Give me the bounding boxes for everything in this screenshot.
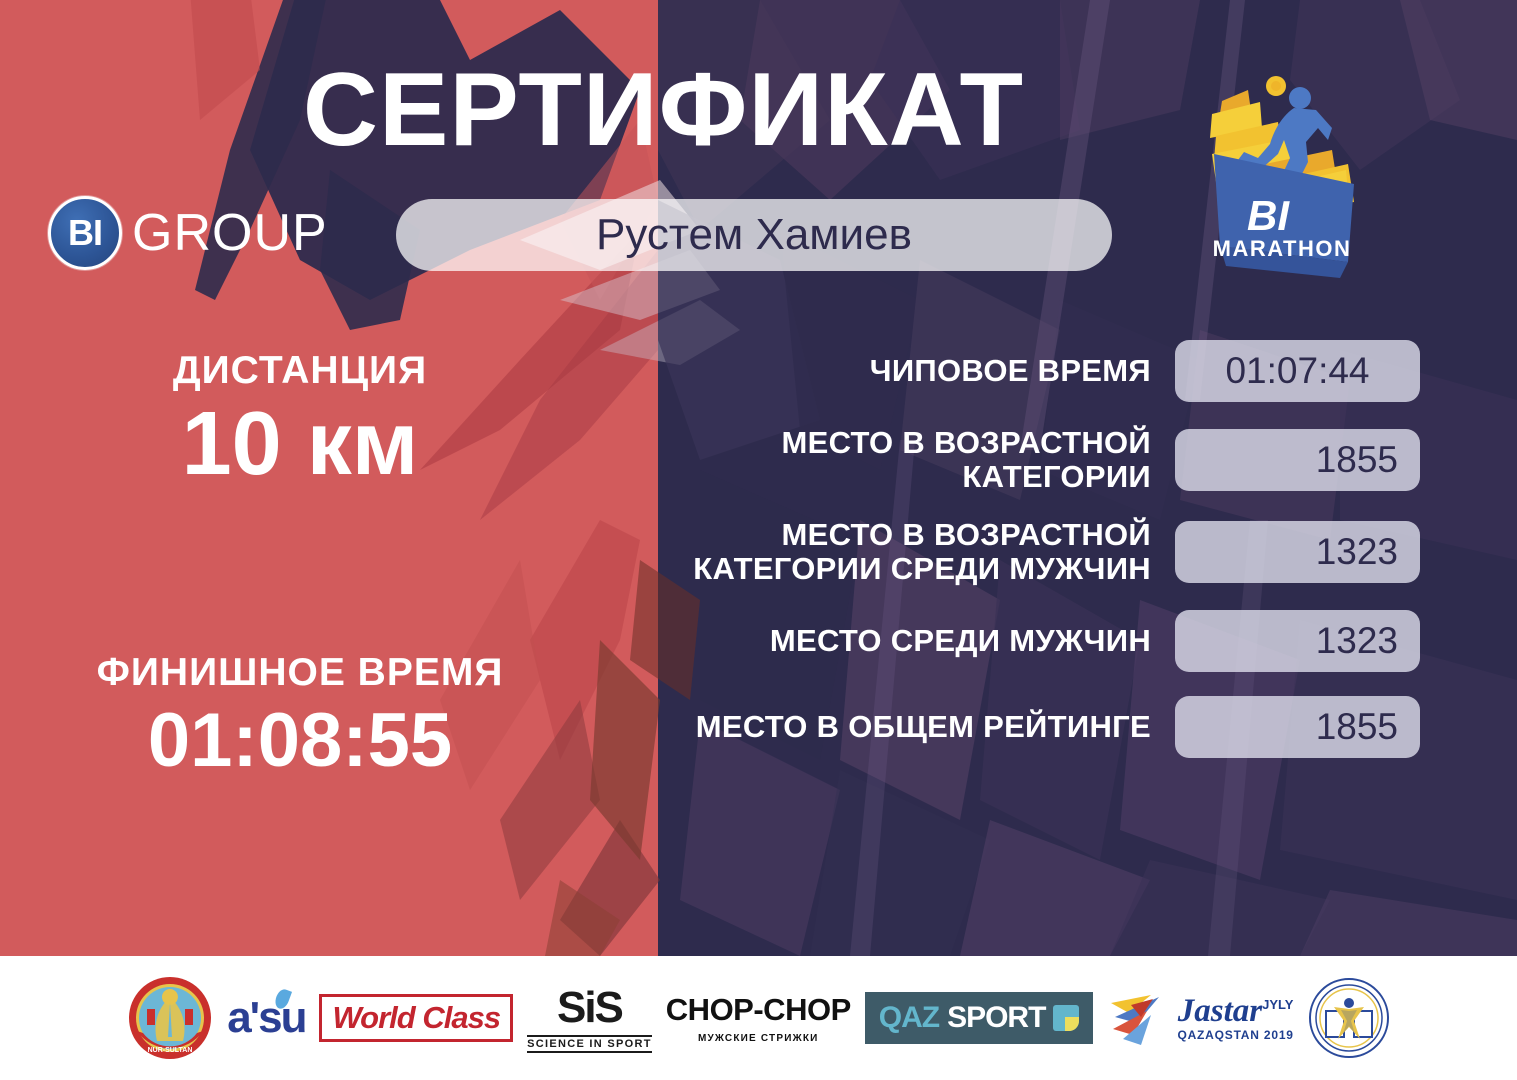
sponsor-strip: NUR-SULTAN a'su World Class SiS SCIENCE …	[0, 956, 1517, 1080]
sis-wordmark: SiS	[557, 983, 622, 1033]
stats-list: ЧИПОВОЕ ВРЕМЯ 01:07:44 МЕСТО В ВОЗРАСТНО…	[600, 340, 1420, 758]
nur-sultan-text: NUR-SULTAN	[148, 1047, 193, 1054]
nur-sultan-emblem-icon: NUR-SULTAN	[127, 975, 213, 1061]
chop-chop-wordmark: CHOP-CHOP	[666, 992, 851, 1028]
stat-value: 1855	[1175, 696, 1420, 758]
sponsor-sis: SiS SCIENCE IN SPORT	[527, 968, 652, 1068]
stat-label: МЕСТО В ВОЗРАСТНОЙ КАТЕГОРИИ СРЕДИ МУЖЧИ…	[600, 518, 1175, 586]
bi-badge-icon: BI	[48, 196, 122, 270]
distance-value: 10 км	[70, 397, 530, 492]
stat-label: МЕСТО В ВОЗРАСТНОЙ КАТЕГОРИИ	[600, 426, 1175, 494]
sis-tagline: SCIENCE IN SPORT	[527, 1035, 652, 1053]
chop-chop-tagline: МУЖСКИЕ СТРИЖКИ	[698, 1033, 819, 1044]
marathon-logo-line1: BI	[1247, 192, 1290, 239]
bi-marathon-logo: BI MARATHON	[1182, 66, 1382, 296]
stat-value: 01:07:44	[1175, 340, 1420, 402]
jastar-year: QAZAQSTAN 2019	[1177, 1028, 1293, 1042]
sponsor-ministry	[1308, 968, 1390, 1068]
qazsport-text-1: QAZ	[879, 1001, 939, 1035]
jastar-sup: JYLY	[1262, 997, 1293, 1012]
stat-row: МЕСТО В ОБЩЕМ РЕЙТИНГЕ 1855	[600, 696, 1420, 758]
jastar-wordmark: Jastar	[1178, 993, 1262, 1029]
marathon-logo-line2: MARATHON	[1213, 236, 1352, 261]
distance-label: ДИСТАНЦИЯ	[70, 348, 530, 393]
sponsor-qazsport: QAZ SPORT	[865, 968, 1094, 1068]
asu-wordmark: a'su	[227, 993, 305, 1043]
stat-row: МЕСТО В ВОЗРАСТНОЙ КАТЕГОРИИ СРЕДИ МУЖЧИ…	[600, 518, 1420, 586]
participant-name: Рустем Хамиев	[596, 210, 912, 260]
finish-time-block: ФИНИШНОЕ ВРЕМЯ 01:08:55	[70, 650, 530, 781]
finish-time-label: ФИНИШНОЕ ВРЕМЯ	[70, 650, 530, 695]
asu-text: a'su	[227, 993, 305, 1042]
sponsor-chop-chop: CHOP-CHOP МУЖСКИЕ СТРИЖКИ	[666, 968, 851, 1068]
bi-group-logo: BI GROUP	[48, 196, 328, 270]
participant-nameplate: Рустем Хамиев	[396, 199, 1112, 271]
sponsor-world-class: World Class	[319, 968, 513, 1068]
stat-label: МЕСТО В ОБЩЕМ РЕЙТИНГЕ	[600, 710, 1175, 744]
stat-value: 1323	[1175, 521, 1420, 583]
stat-row: ЧИПОВОЕ ВРЕМЯ 01:07:44	[600, 340, 1420, 402]
stat-label: ЧИПОВОЕ ВРЕМЯ	[600, 354, 1175, 388]
certificate-canvas: СЕРТИФИКАТ BI GROUP Рустем Хамиев	[0, 0, 1517, 1080]
qazsport-wordmark: QAZ SPORT	[865, 992, 1094, 1044]
sponsor-jastar-jyly: JastarJYLY QAZAQSTAN 2019	[1107, 968, 1293, 1068]
stat-label: МЕСТО СРЕДИ МУЖЧИН	[600, 624, 1175, 658]
certificate-artwork: СЕРТИФИКАТ BI GROUP Рустем Хамиев	[0, 0, 1517, 956]
world-class-wordmark: World Class	[319, 994, 513, 1042]
stat-row: МЕСТО В ВОЗРАСТНОЙ КАТЕГОРИИ 1855	[600, 426, 1420, 494]
distance-block: ДИСТАНЦИЯ 10 км	[70, 348, 530, 492]
finish-time-value: 01:08:55	[70, 701, 530, 781]
qazsport-square-icon	[1053, 1005, 1079, 1031]
stat-value: 1323	[1175, 610, 1420, 672]
sponsor-nur-sultan: NUR-SULTAN	[127, 968, 213, 1068]
stat-row: МЕСТО СРЕДИ МУЖЧИН 1323	[600, 610, 1420, 672]
stat-value: 1855	[1175, 429, 1420, 491]
sponsor-asu: a'su	[227, 968, 305, 1068]
qazsport-text-2: SPORT	[947, 1001, 1045, 1035]
jastar-bird-icon	[1107, 983, 1171, 1053]
ministry-emblem-icon	[1308, 977, 1390, 1059]
bi-group-wordmark: GROUP	[132, 203, 328, 263]
